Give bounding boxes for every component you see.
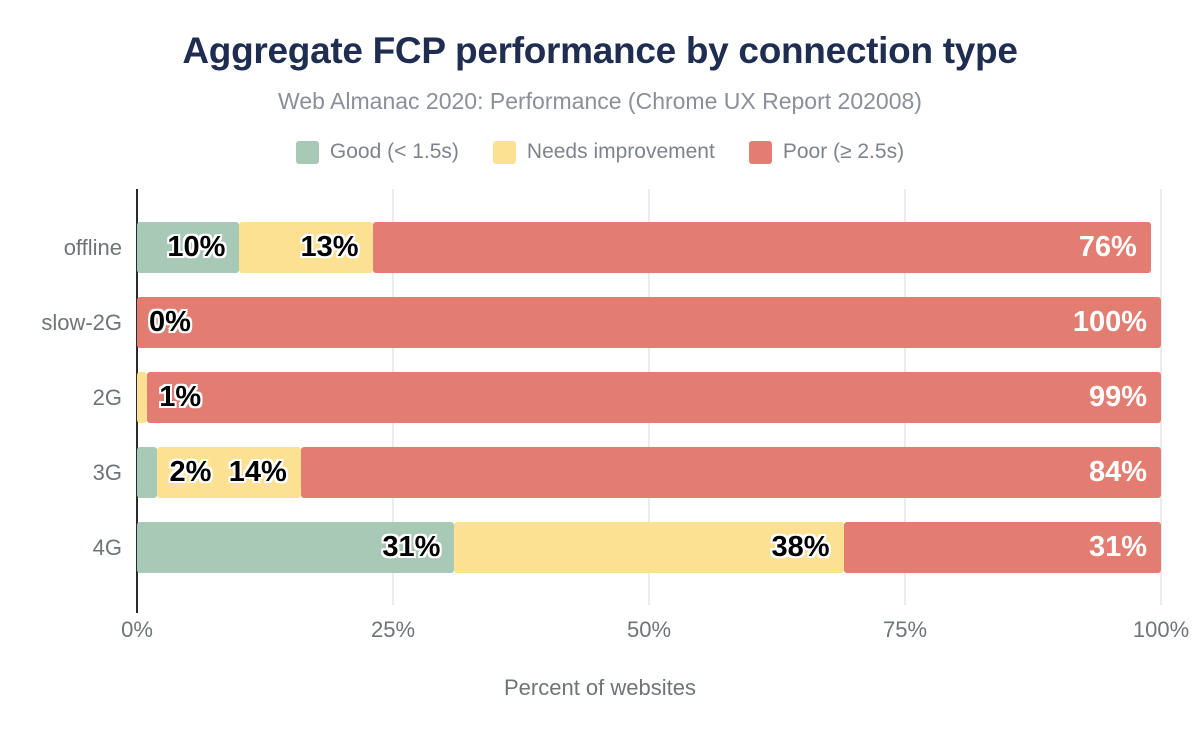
legend-swatch-icon	[296, 141, 319, 164]
chart-legend: Good (< 1.5s)Needs improvementPoor (≥ 2.…	[0, 140, 1200, 164]
legend-swatch-icon	[493, 141, 516, 164]
y-axis-tick-labels: offlineslow-2G2G3G4G	[0, 189, 122, 605]
legend-item-1[interactable]: Needs improvement	[493, 140, 715, 164]
y-axis-tick-2G: 2G	[2, 372, 122, 423]
legend-item-0[interactable]: Good (< 1.5s)	[296, 140, 459, 164]
bar-segment-2G-2[interactable]	[147, 372, 1161, 423]
legend-item-label: Needs improvement	[527, 140, 715, 164]
plot-area: 10%13%76%0%100%1%99%2%14%84%31%38%31%	[137, 189, 1161, 605]
chart-subtitle: Web Almanac 2020: Performance (Chrome UX…	[0, 88, 1200, 115]
x-axis-tick-0%: 0%	[121, 617, 153, 643]
bar-segment-slow-2G-2[interactable]	[137, 297, 1161, 348]
bar-segment-4G-2[interactable]	[844, 522, 1161, 573]
y-axis-tick-slow-2G: slow-2G	[2, 297, 122, 348]
bar-row-3G: 2%14%84%	[137, 447, 1161, 498]
x-axis-tick-labels: 0%25%50%75%100%	[137, 605, 1161, 645]
bar-segment-2G-1[interactable]	[137, 372, 147, 423]
bar-segment-4G-1[interactable]	[454, 522, 843, 573]
bar-segment-3G-1[interactable]	[157, 447, 300, 498]
x-axis-tick-50%: 50%	[627, 617, 671, 643]
bar-segment-offline-0[interactable]	[137, 222, 239, 273]
chart-title: Aggregate FCP performance by connection …	[0, 30, 1200, 72]
bar-row-offline: 10%13%76%	[137, 222, 1161, 273]
chart-container: Aggregate FCP performance by connection …	[0, 0, 1200, 742]
y-axis-tick-3G: 3G	[2, 447, 122, 498]
legend-item-label: Good (< 1.5s)	[330, 140, 459, 164]
legend-swatch-icon	[749, 141, 772, 164]
bar-segment-offline-2[interactable]	[373, 222, 1151, 273]
bar-row-2G: 1%99%	[137, 372, 1161, 423]
bar-segment-offline-1[interactable]	[239, 222, 372, 273]
x-axis-tick-25%: 25%	[371, 617, 415, 643]
bar-row-slow-2G: 0%100%	[137, 297, 1161, 348]
x-axis-tick-75%: 75%	[883, 617, 927, 643]
y-axis-tick-offline: offline	[2, 222, 122, 273]
x-axis-label: Percent of websites	[0, 675, 1200, 701]
bar-row-4G: 31%38%31%	[137, 522, 1161, 573]
y-axis-tick-4G: 4G	[2, 522, 122, 573]
x-axis-tick-100%: 100%	[1133, 617, 1189, 643]
bar-segment-4G-0[interactable]	[137, 522, 454, 573]
legend-item-label: Poor (≥ 2.5s)	[783, 140, 904, 164]
x-axis-tick-mark	[136, 605, 138, 613]
bar-segment-3G-2[interactable]	[301, 447, 1161, 498]
legend-item-2[interactable]: Poor (≥ 2.5s)	[749, 140, 904, 164]
bar-segment-3G-0[interactable]	[137, 447, 157, 498]
